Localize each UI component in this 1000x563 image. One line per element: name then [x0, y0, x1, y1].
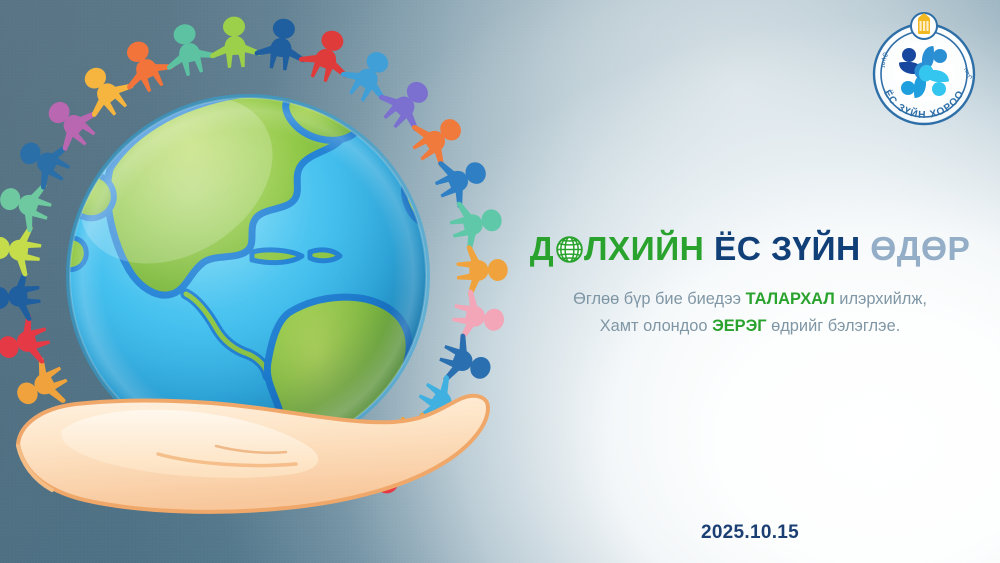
title-space-2 [861, 231, 871, 268]
soyombo-crest-icon [911, 13, 937, 39]
person-figure-icon [69, 55, 140, 126]
person-figure-icon [0, 311, 55, 374]
subtitle-line-1-after: илэрхийлж, [835, 290, 927, 308]
person-figure-icon [402, 103, 473, 174]
event-date: 2025.10.15 [560, 522, 940, 544]
poster-canvas: ЁС ЗҮЙН ХОРОО ᠶᠤᠰᠤ ᠵᠦᠢ Д [0, 0, 1000, 563]
page-title: Д ЛХИЙН ЁС ЗҮЙН ӨДӨР [500, 232, 1000, 269]
title-part-3-text: ЁС ЗҮЙН [714, 231, 861, 268]
person-figure-icon [371, 68, 443, 140]
person-figure-icon [0, 269, 42, 324]
open-palm-hand-icon [18, 396, 488, 512]
person-figure-icon [208, 15, 262, 69]
subtitle-line-1: Өглөө бүр бие биедээ ТАЛАРХАЛ илэрхийлж, [500, 286, 1000, 313]
person-figure-icon [0, 222, 43, 278]
person-figure-icon [35, 87, 107, 159]
subtitle-block: Өглөө бүр бие биедээ ТАЛАРХАЛ илэрхийлж,… [500, 286, 1000, 340]
title-part-4: ӨДӨР [870, 231, 970, 268]
subtitle-line-1-highlight: ТАЛАРХАЛ [746, 290, 835, 308]
person-figure-icon [157, 18, 219, 80]
person-figure-icon [446, 193, 507, 254]
earth-in-hand-illustration [0, 0, 550, 563]
subtitle-line-2-after: өдрийг бэлэглэе. [767, 317, 901, 335]
title-part-2: ЛХИЙН [584, 231, 704, 268]
ethics-committee-logo: ЁС ЗҮЙН ХОРОО ᠶᠤᠰᠤ ᠵᠦᠢ [862, 8, 986, 132]
subtitle-line-1-before: Өглөө бүр бие биедээ [573, 290, 746, 308]
person-figure-icon [253, 15, 311, 73]
subtitle-line-2-before: Хамт олондоо [600, 317, 712, 335]
subtitle-line-2-highlight: ЭЕРЭГ [712, 317, 766, 335]
subtitle-line-2: Хамт олондоо ЭЕРЭГ өдрийг бэлэглэе. [500, 313, 1000, 340]
wireframe-globe-icon [555, 235, 584, 264]
person-figure-icon [0, 172, 57, 236]
title-part-3 [704, 231, 714, 268]
four-people-pinwheel-icon [894, 42, 954, 102]
title-part-1: Д [530, 231, 554, 268]
